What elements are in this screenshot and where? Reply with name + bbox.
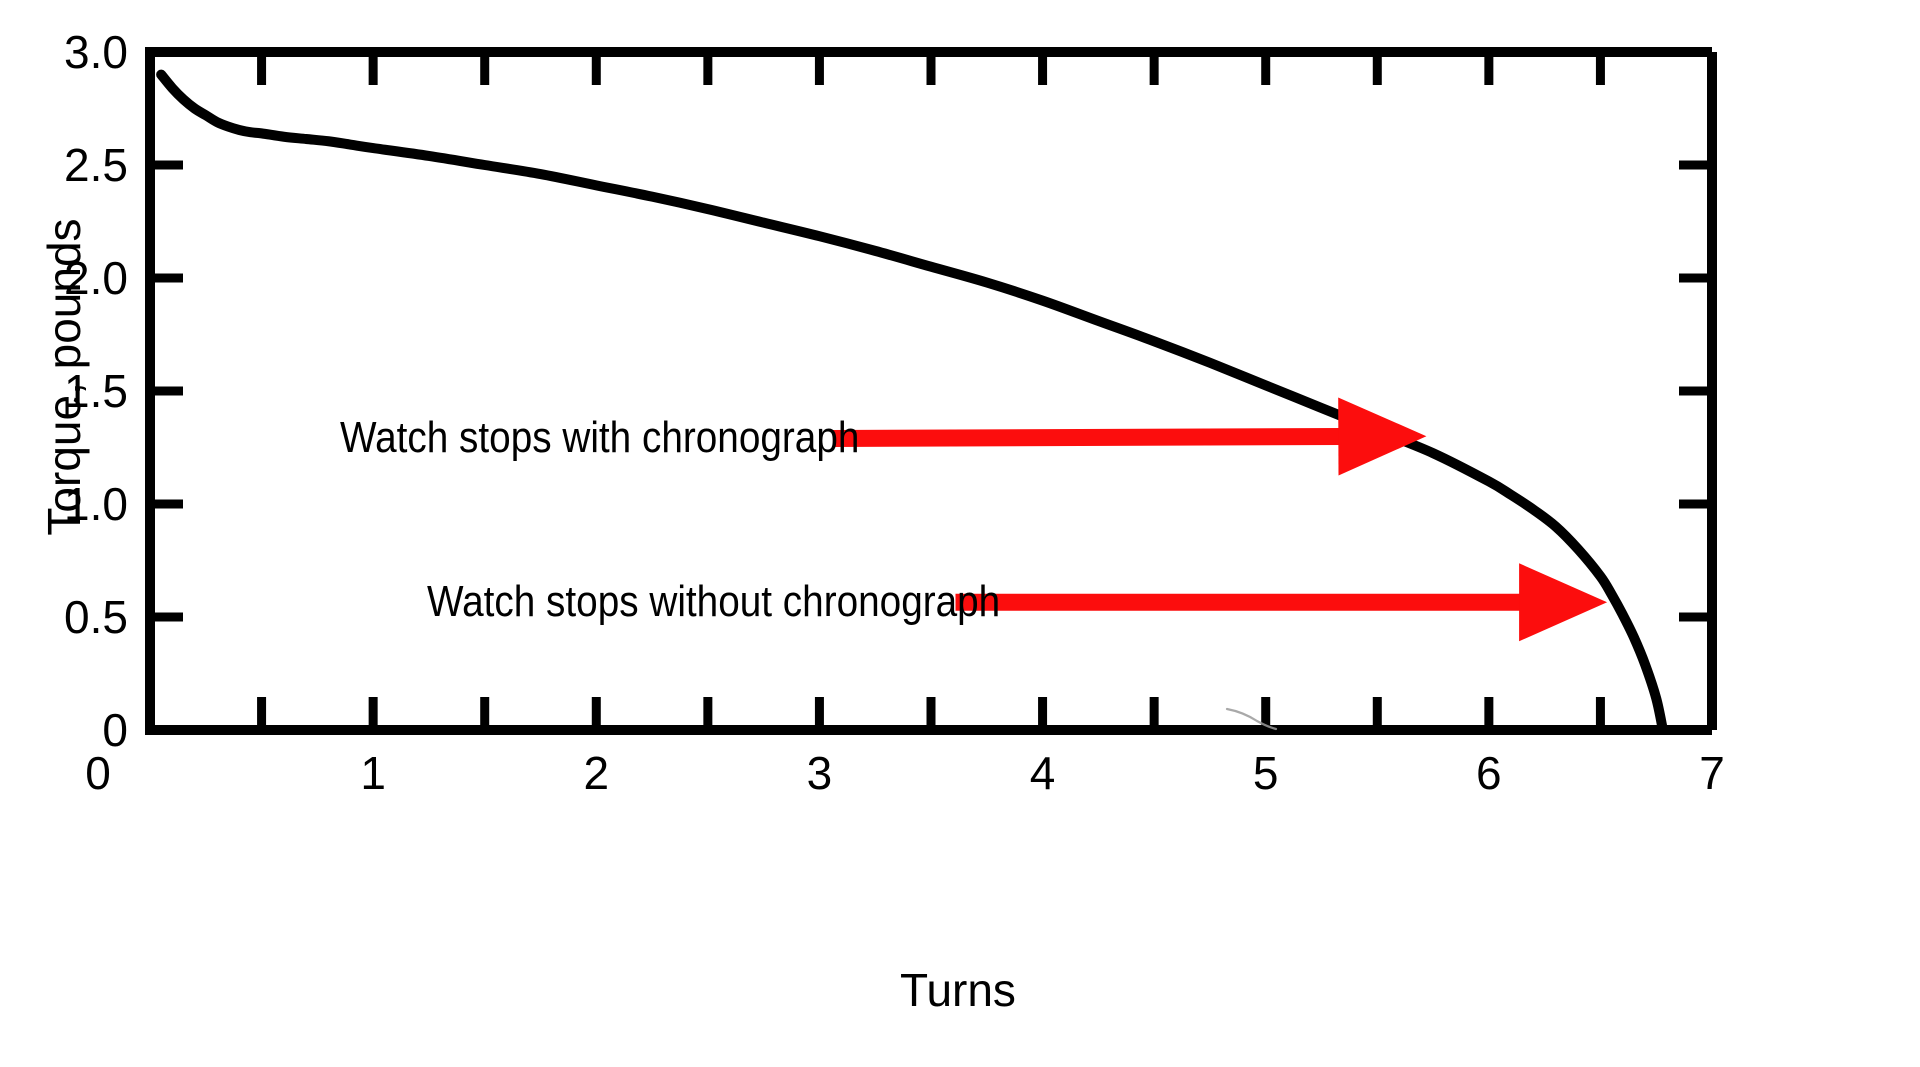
y-tick-label: 0.5 xyxy=(64,590,128,644)
annotation-arrow-head-0 xyxy=(1338,398,1426,476)
x-tick-label: 4 xyxy=(1030,746,1056,800)
x-tick-label: 5 xyxy=(1253,746,1279,800)
x-tick-label: 2 xyxy=(583,746,609,800)
y-tick-label: 2.5 xyxy=(64,138,128,192)
series-line-0 xyxy=(161,75,1663,730)
x-tick-label: 6 xyxy=(1476,746,1502,800)
annotation-label-with-chronograph: Watch stops with chronograph xyxy=(340,413,859,463)
x-tick-label: 0 xyxy=(85,746,111,800)
annotation-label-without-chronograph: Watch stops without chronograph xyxy=(427,577,1000,627)
x-axis-title: Turns xyxy=(768,963,1148,1017)
torque-curve xyxy=(161,75,1663,730)
y-axis-title: Torque, pounds xyxy=(37,217,91,537)
y-tick-label: 3.0 xyxy=(64,25,128,79)
x-tick-label: 3 xyxy=(807,746,833,800)
annotation-arrow-shaft-0 xyxy=(833,437,1343,439)
torque-vs-turns-chart: 00.51.01.52.02.53.0 01234567 Watch stops… xyxy=(0,0,1920,1067)
x-tick-label: 1 xyxy=(360,746,386,800)
x-tick-label: 7 xyxy=(1699,746,1725,800)
plot-canvas xyxy=(0,0,1920,1067)
y-axis-ticks xyxy=(155,165,1707,617)
